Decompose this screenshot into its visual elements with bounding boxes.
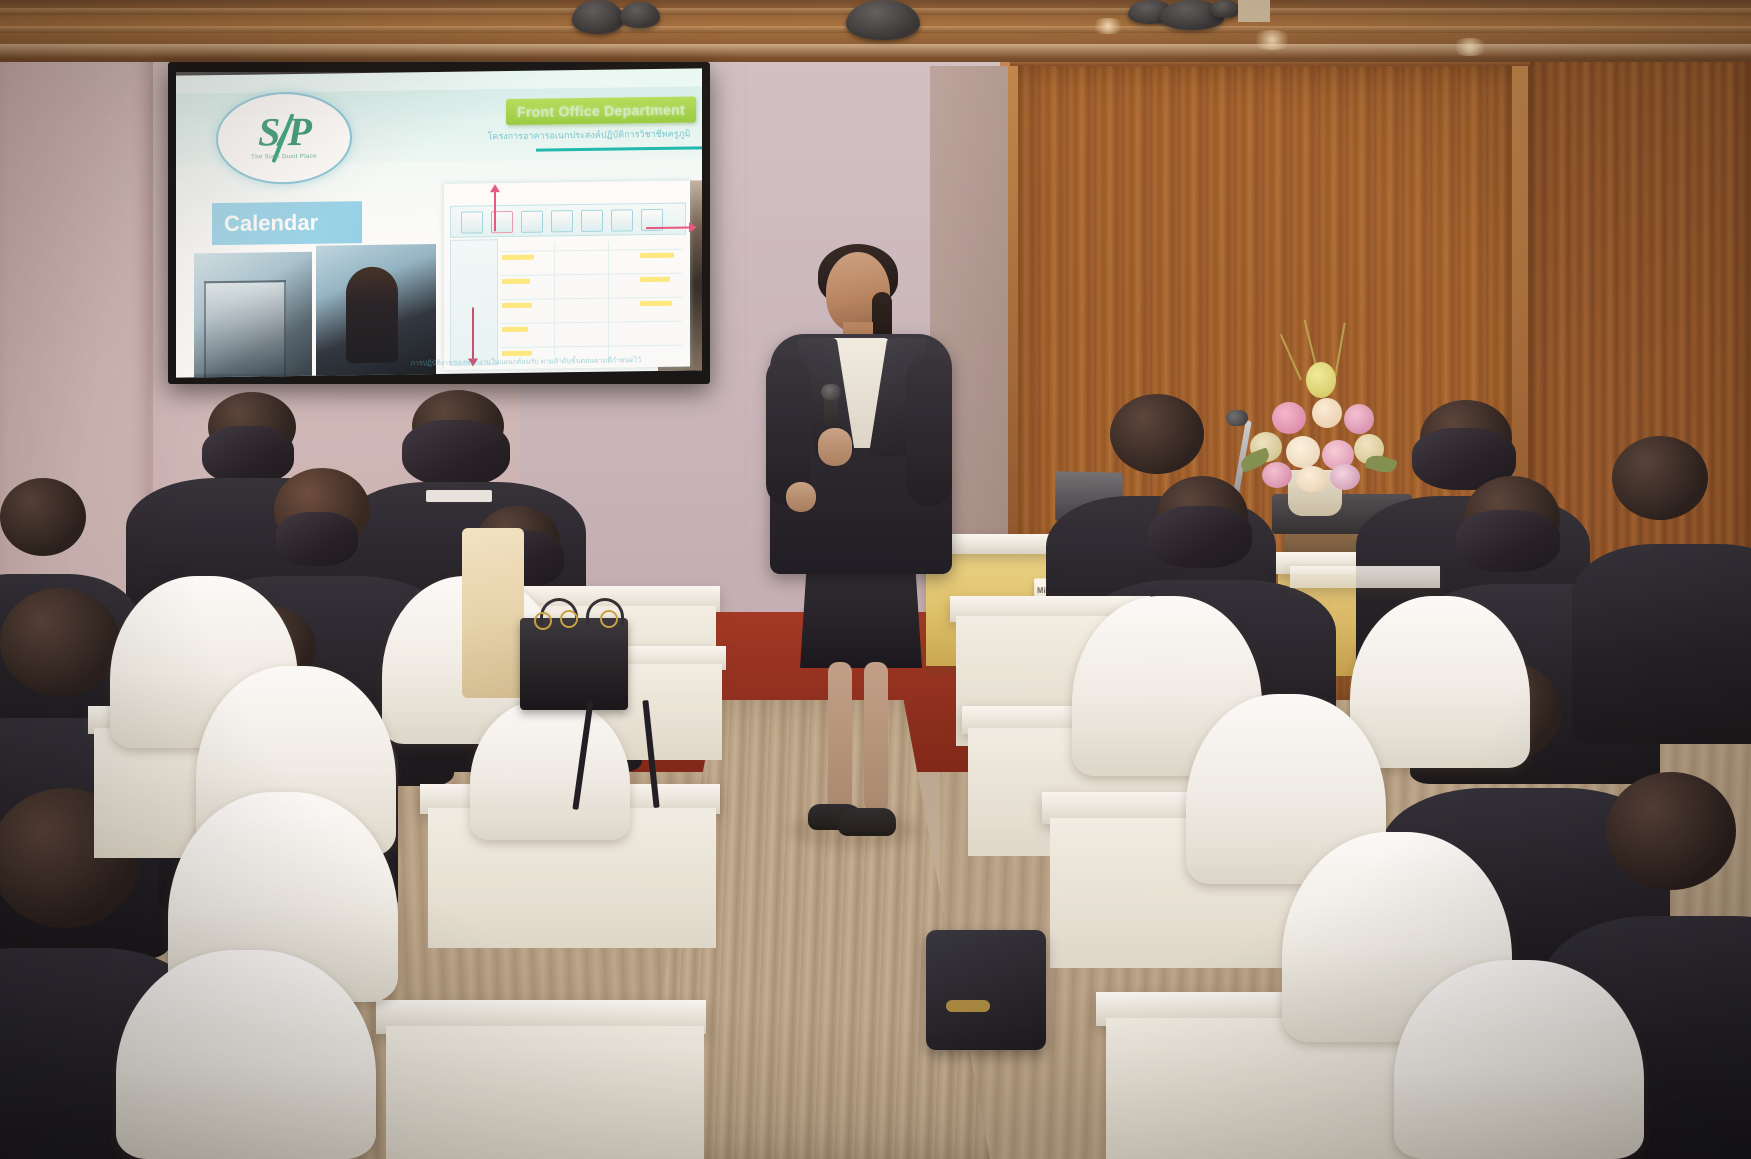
ceiling-light-glow [1450,38,1490,56]
flower-icon [1306,362,1336,398]
hair-bow [202,426,294,484]
audience-collar [426,490,492,502]
ceiling-fixture [1238,0,1270,22]
app-event-row [502,279,530,284]
microphone-head-icon [1226,410,1248,426]
flower-icon [1296,466,1328,492]
app-event-row [640,277,670,282]
ceiling-spotlight-icon [1210,0,1240,18]
app-grid-line [500,345,682,349]
logo-tagline: The Siam Dusit Place [218,153,350,161]
slide-department-badge: Front Office Department [506,96,696,125]
presenter-shadow [790,812,920,848]
app-ribbon [450,203,686,238]
app-event-row [502,327,528,332]
projection-screen: S/P The Siam Dusit Place Front Office De… [168,62,710,384]
app-grid-line [500,273,682,277]
microphone-capsule-icon [821,384,841,400]
annotation-arrow-up-icon [494,191,496,231]
cream-tote-bag [462,528,524,698]
bag-hardware-icon [534,612,552,630]
hair-bow [402,420,510,486]
flower-icon [1262,462,1292,488]
app-sidebar [450,239,498,366]
app-grid-line [608,242,609,364]
annotation-arrow-down-icon [472,308,474,360]
draped-table [1290,566,1440,588]
table-skirt [386,1026,704,1159]
slide-app-screenshot [444,180,690,369]
app-event-row [640,253,674,258]
hair-bow [1456,510,1560,572]
slide-section-chip: Calendar [212,201,362,245]
flower-icon [1344,404,1374,434]
presentation-slide: S/P The Siam Dusit Place Front Office De… [176,68,702,377]
flower-icon [1272,402,1306,434]
hotel-logo-icon: S/P The Siam Dusit Place [216,91,352,185]
app-grid-line [500,321,682,325]
backpack-logo-icon [946,1000,990,1012]
app-grid-line [554,242,555,364]
ribbon-icon [461,211,483,233]
slide-department-label: Front Office Department [506,96,696,125]
ribbon-icon [551,210,573,232]
audience-hair [0,588,120,696]
audience-hair [1110,394,1204,474]
audience-hair [1612,436,1708,520]
presenter-leg [864,662,888,812]
presenter-arm [906,356,952,506]
audience-hair [1606,772,1736,890]
slide-section-label: Calendar [212,201,362,245]
app-event-row [502,351,532,356]
presenter-hand [818,428,852,466]
flower-icon [1286,436,1320,468]
floor-backpack [926,930,1046,1050]
banquet-chair [470,700,630,840]
ceiling-spotlight-icon [572,0,624,34]
app-event-row [502,303,532,308]
flower-icon [1330,464,1360,490]
presenter-leg [828,662,852,812]
audience-torso [1572,544,1751,744]
ribbon-icon [581,210,603,232]
bag-hardware-icon [560,610,578,628]
bag-hardware-icon [600,610,618,628]
hair-bow [1148,506,1252,568]
black-handbag [520,618,628,710]
ceiling-spotlight-icon [846,0,920,40]
app-event-row [502,255,534,260]
flower-icon [1312,398,1342,428]
ribbon-icon [611,209,633,231]
app-event-row [640,301,672,306]
ceiling-light-glow [1250,30,1294,50]
conference-room-photo: S/P The Siam Dusit Place Front Office De… [0,0,1751,1159]
ceiling-light-glow [1090,18,1126,34]
slide-photo-lobby [194,252,312,378]
app-grid-line [500,249,682,253]
ceiling-spotlight-icon [620,2,660,28]
ribbon-icon [521,211,543,233]
app-grid-line [500,297,682,301]
presenter-hand [786,482,816,512]
audience-hair [0,478,86,556]
hair-bow [276,512,358,566]
